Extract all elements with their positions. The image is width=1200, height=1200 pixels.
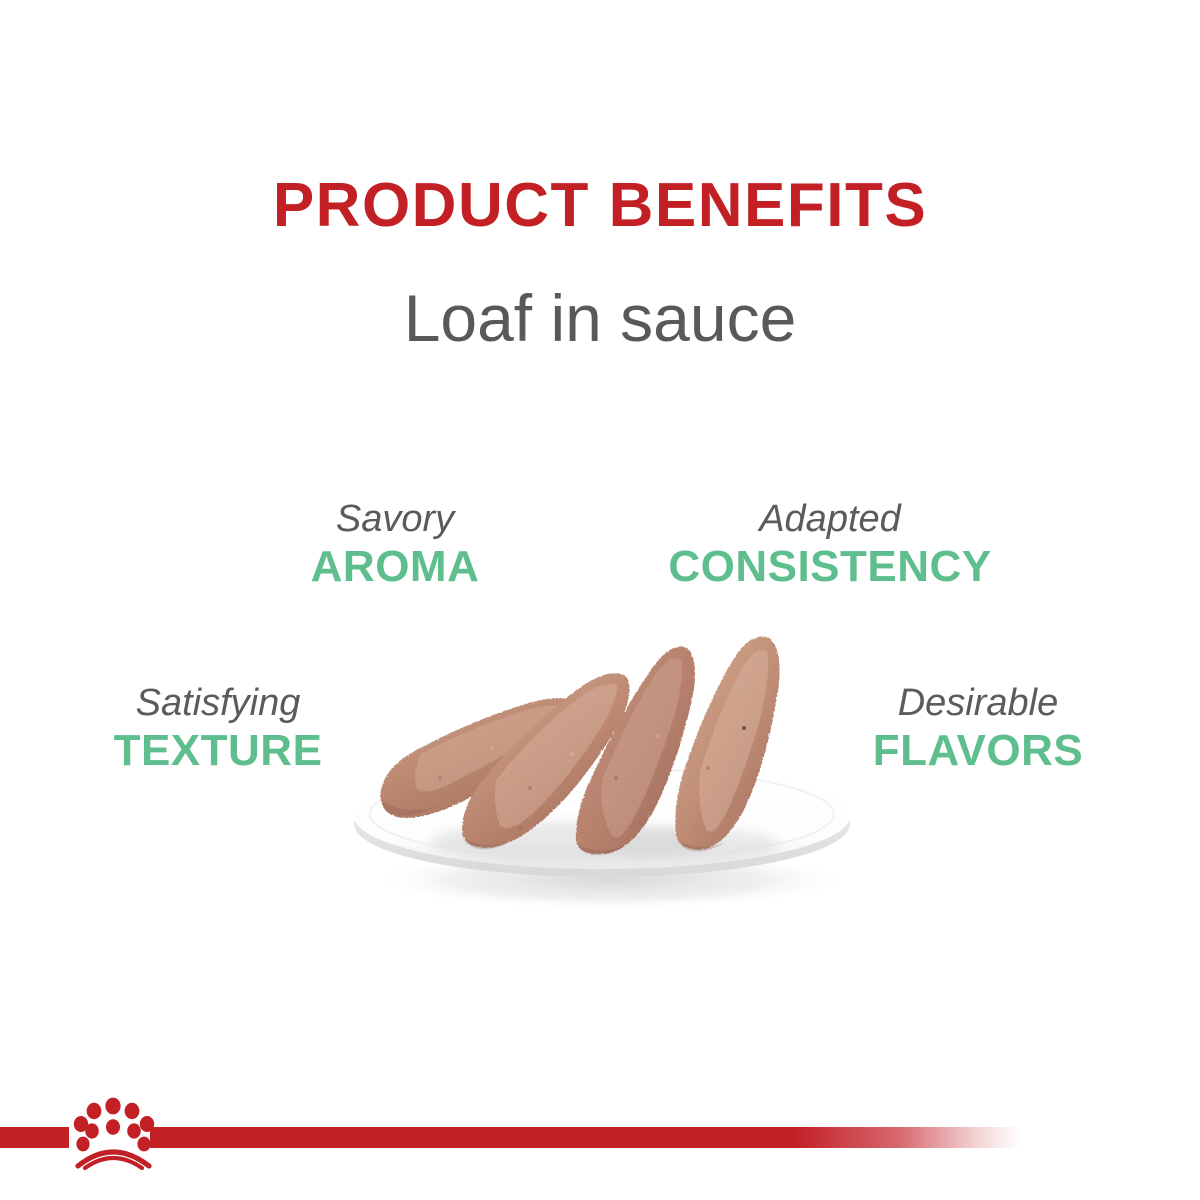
benefit-consistency-noun: CONSISTENCY — [645, 542, 1015, 593]
benefit-flavors-noun: FLAVORS — [838, 726, 1118, 777]
benefit-consistency-adjective: Adapted — [645, 498, 1015, 542]
benefit-aroma-noun: AROMA — [245, 542, 545, 593]
benefit-consistency: Adapted CONSISTENCY — [645, 498, 1015, 592]
benefit-flavors: Desirable FLAVORS — [838, 682, 1118, 776]
product-food-image — [320, 628, 880, 918]
benefit-flavors-adjective: Desirable — [838, 682, 1118, 726]
crown-arc — [78, 1152, 149, 1168]
crown-dots — [74, 1098, 154, 1152]
page-subtitle: Loaf in sauce — [0, 237, 1200, 351]
brand-bar-right — [150, 1127, 1020, 1148]
product-benefits-page: PRODUCT BENEFITS Loaf in sauce Savory AR… — [0, 0, 1200, 1200]
benefit-aroma: Savory AROMA — [245, 498, 545, 592]
brand-bar-left — [0, 1127, 69, 1148]
benefit-aroma-adjective: Savory — [245, 498, 545, 542]
royal-canin-crown-logo — [72, 1092, 162, 1170]
heading-block: PRODUCT BENEFITS Loaf in sauce — [0, 175, 1200, 351]
page-title: PRODUCT BENEFITS — [0, 175, 1200, 237]
